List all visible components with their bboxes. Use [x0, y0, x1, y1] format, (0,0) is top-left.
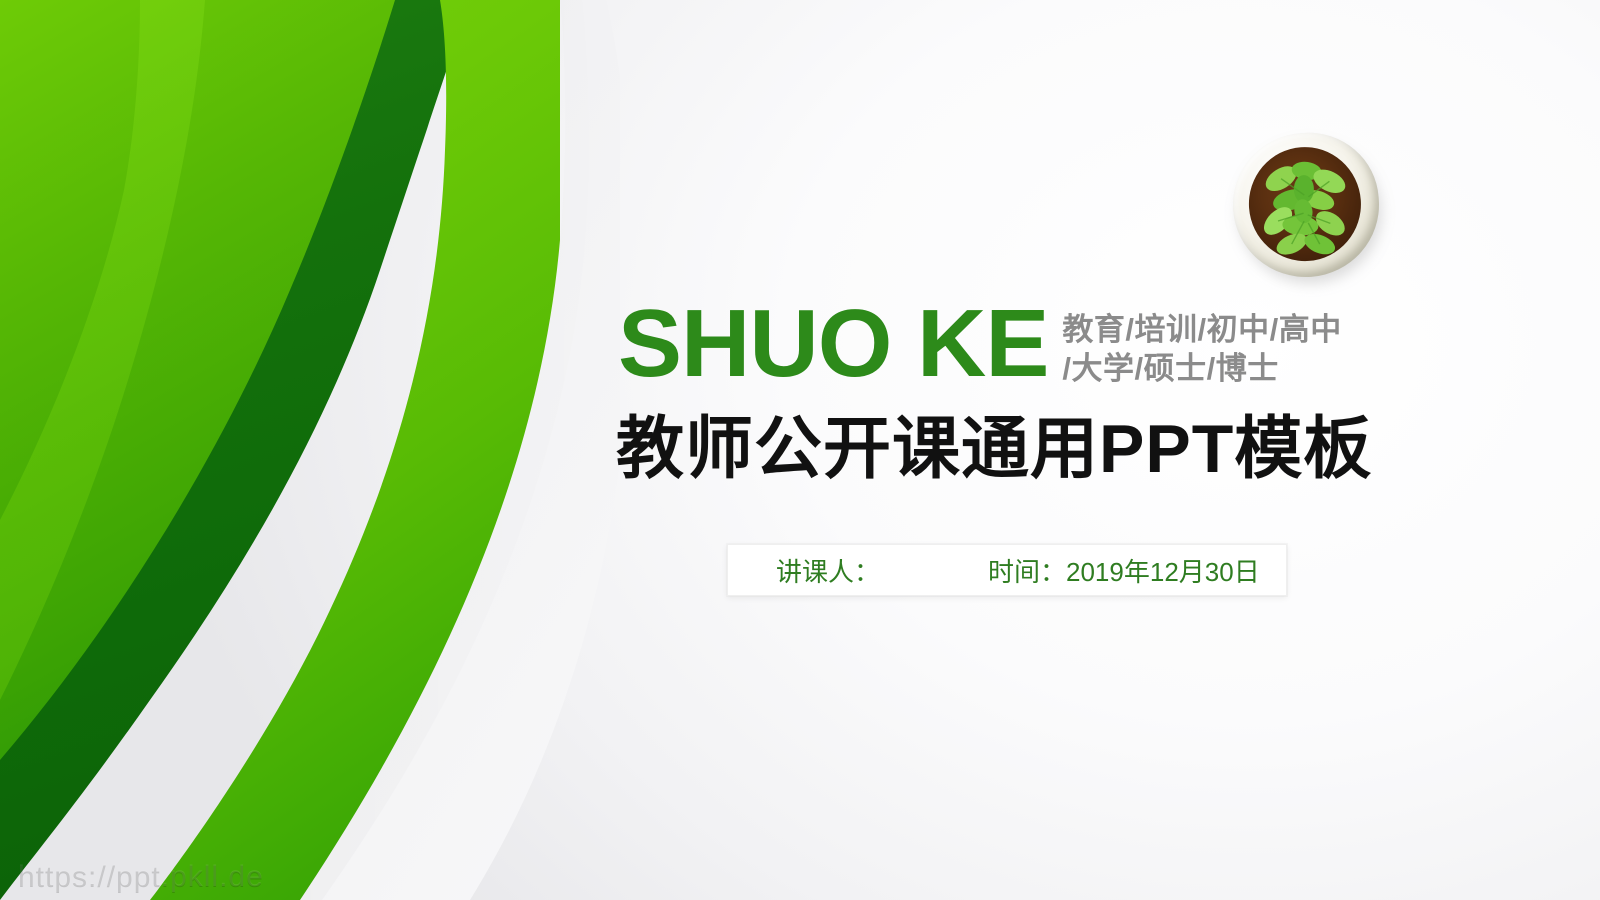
slide-headline: 教师公开课通用PPT模板 [616, 414, 1372, 485]
brand-tagline-line-1: 教育/培训/初中/高中 [1062, 310, 1341, 349]
potted-plant-icon [1233, 133, 1385, 285]
brand-name: SHUO KE [618, 296, 1048, 392]
brand-tagline: 教育/培训/初中/高中 /大学/硕士/博士 [1062, 296, 1341, 388]
brand-tagline-line-2: /大学/硕士/博士 [1062, 349, 1341, 388]
watermark-url: https://ppt.pkll.de [18, 860, 264, 894]
presentation-slide: https://ppt.pkll.de [0, 0, 1600, 900]
meta-bar: 讲课人： 时间：2019年12月30日 [727, 544, 1287, 596]
presenter-label: 讲课人： [776, 552, 880, 589]
brand-row: SHUO KE 教育/培训/初中/高中 /大学/硕士/博士 [618, 296, 1342, 392]
date-label: 时间：2019年12月30日 [988, 552, 1260, 589]
plant-leaves [1228, 128, 1384, 282]
